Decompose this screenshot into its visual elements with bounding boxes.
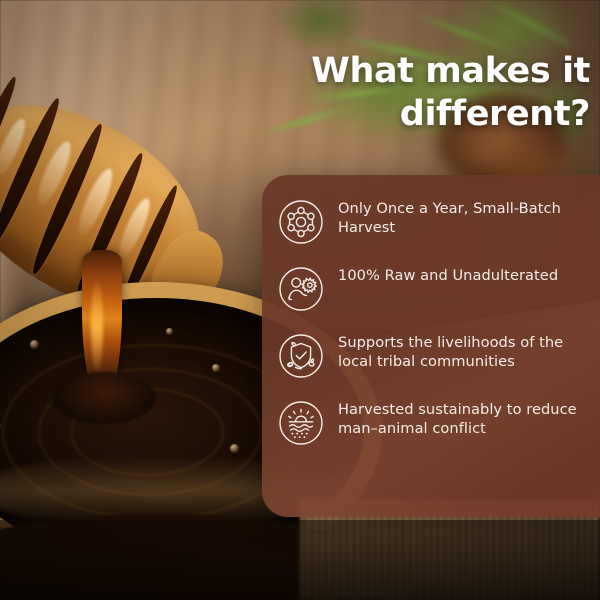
bottom-shadow (0, 520, 600, 600)
honey-stream-base (52, 372, 156, 424)
feature-label: Supports the livelihoods of the local tr… (338, 331, 586, 372)
feature-item-raw: 100% Raw and Unadulterated (278, 264, 586, 312)
honey-bubble (230, 444, 239, 453)
feature-label: Only Once a Year, Small-Batch Harvest (338, 197, 586, 238)
feature-panel: Only Once a Year, Small-Batch Harvest 1 (262, 175, 600, 517)
feature-item-sustainable: Harvested sustainably to reduce man–anim… (278, 398, 586, 446)
feature-label: 100% Raw and Unadulterated (338, 264, 558, 286)
honeycomb-molecule-icon (278, 199, 324, 245)
page-title-line-1: What makes it (300, 50, 590, 93)
feature-label: Harvested sustainably to reduce man–anim… (338, 398, 586, 439)
honey-stream-glow (91, 278, 103, 374)
sunrise-field-icon (278, 400, 324, 446)
feature-list: Only Once a Year, Small-Batch Harvest 1 (262, 175, 600, 446)
honey-bubble (30, 340, 39, 349)
honey-bubble (166, 328, 173, 335)
page-title: What makes it different? (300, 50, 590, 135)
shield-check-icon (278, 333, 324, 379)
honey-bubble (212, 364, 220, 372)
page-title-line-2: different? (300, 93, 590, 136)
feature-item-livelihoods: Supports the livelihoods of the local tr… (278, 331, 586, 379)
person-pure-burst-icon (278, 266, 324, 312)
product-feature-poster: What makes it different? (0, 0, 600, 600)
feature-item-harvest: Only Once a Year, Small-Batch Harvest (278, 197, 586, 245)
